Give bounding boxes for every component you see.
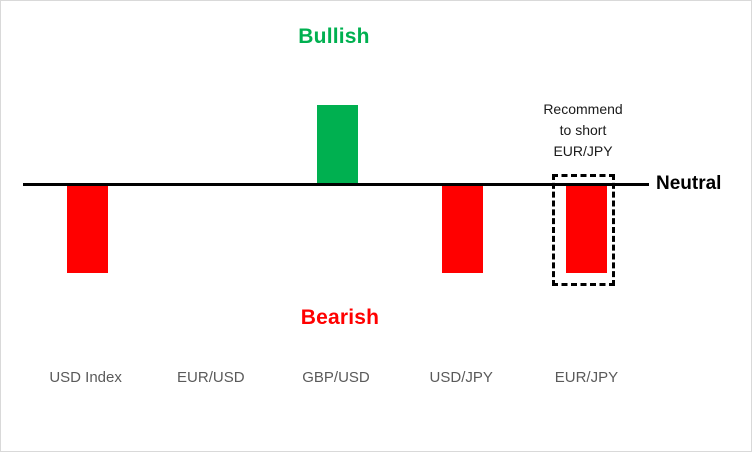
category-label-eur-jpy: EUR/JPY: [524, 367, 649, 391]
eur-jpy-highlight-box: [552, 174, 615, 286]
bar-usd-jpy[interactable]: [442, 185, 483, 273]
annotation-line-3: EUR/JPY: [513, 141, 653, 162]
annotation-line-1: Recommend: [513, 99, 653, 120]
category-label-usd-index: USD Index: [23, 367, 148, 391]
category-axis: USD Index EUR/USD GBP/USD USD/JPY EUR/JP…: [23, 367, 649, 391]
category-label-eur-usd: EUR/USD: [148, 367, 273, 391]
bar-gbp-usd[interactable]: [317, 105, 358, 185]
bearish-zone-label: Bearish: [0, 306, 715, 330]
category-label-usd-jpy: USD/JPY: [399, 367, 524, 391]
recommendation-annotation: Recommend to short EUR/JPY: [513, 99, 653, 162]
bar-usd-index[interactable]: [67, 185, 108, 273]
annotation-line-2: to short: [513, 120, 653, 141]
neutral-axis-label: Neutral: [656, 173, 721, 195]
category-label-gbp-usd: GBP/USD: [273, 367, 398, 391]
chart-canvas: Bullish Neutral Recommend to short EUR/J…: [0, 0, 752, 452]
